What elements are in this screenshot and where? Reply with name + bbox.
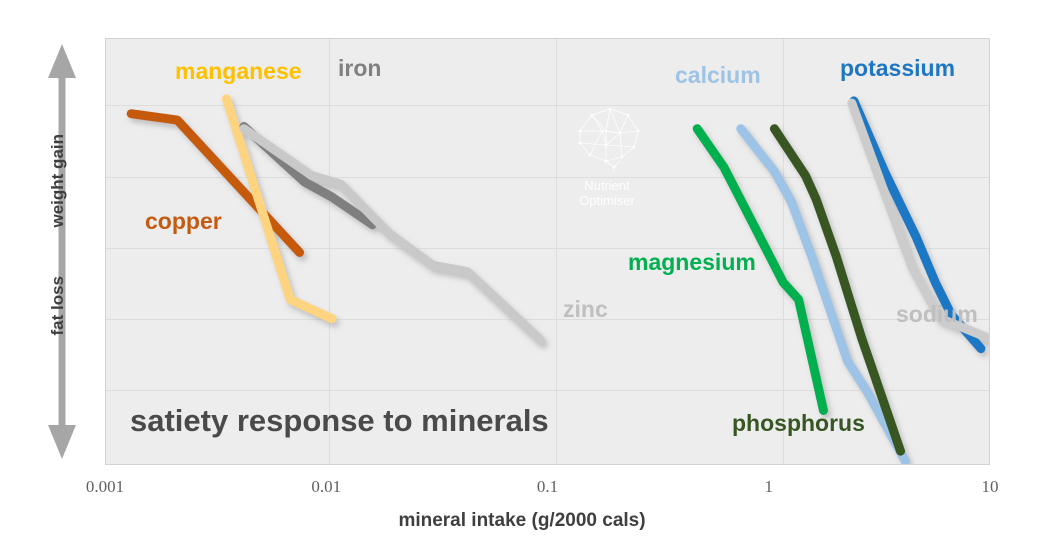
y-axis-label-weight-gain: weight gain bbox=[48, 134, 68, 228]
series-label-phosphorus: phosphorus bbox=[732, 410, 865, 437]
x-tick-label: 0.001 bbox=[86, 477, 124, 497]
chart-page: weight gain fat loss bbox=[0, 0, 1044, 550]
x-tick-label: 0.01 bbox=[311, 477, 341, 497]
y-axis-group: weight gain fat loss bbox=[28, 38, 98, 465]
plot-area: Nutrient Optimiser bbox=[105, 38, 990, 465]
series-label-potassium: potassium bbox=[840, 55, 955, 82]
x-tick-label: 0.1 bbox=[537, 477, 558, 497]
x-tick-label: 1 bbox=[765, 477, 774, 497]
series-lines bbox=[106, 39, 990, 465]
series-label-calcium: calcium bbox=[675, 62, 761, 89]
chart-headline: satiety response to minerals bbox=[130, 403, 549, 439]
series-label-manganese: manganese bbox=[175, 58, 302, 85]
y-axis-double-arrow-icon bbox=[42, 38, 82, 465]
series-label-sodium: sodium bbox=[896, 301, 978, 328]
series-label-zinc: zinc bbox=[563, 296, 608, 323]
series-label-iron: iron bbox=[338, 55, 381, 82]
x-axis-title: mineral intake (g/2000 cals) bbox=[0, 510, 1044, 532]
series-label-copper: copper bbox=[145, 208, 222, 235]
y-axis-label-fat-loss: fat loss bbox=[48, 276, 68, 336]
series-label-magnesium: magnesium bbox=[628, 249, 756, 276]
x-tick-label: 10 bbox=[982, 477, 999, 497]
